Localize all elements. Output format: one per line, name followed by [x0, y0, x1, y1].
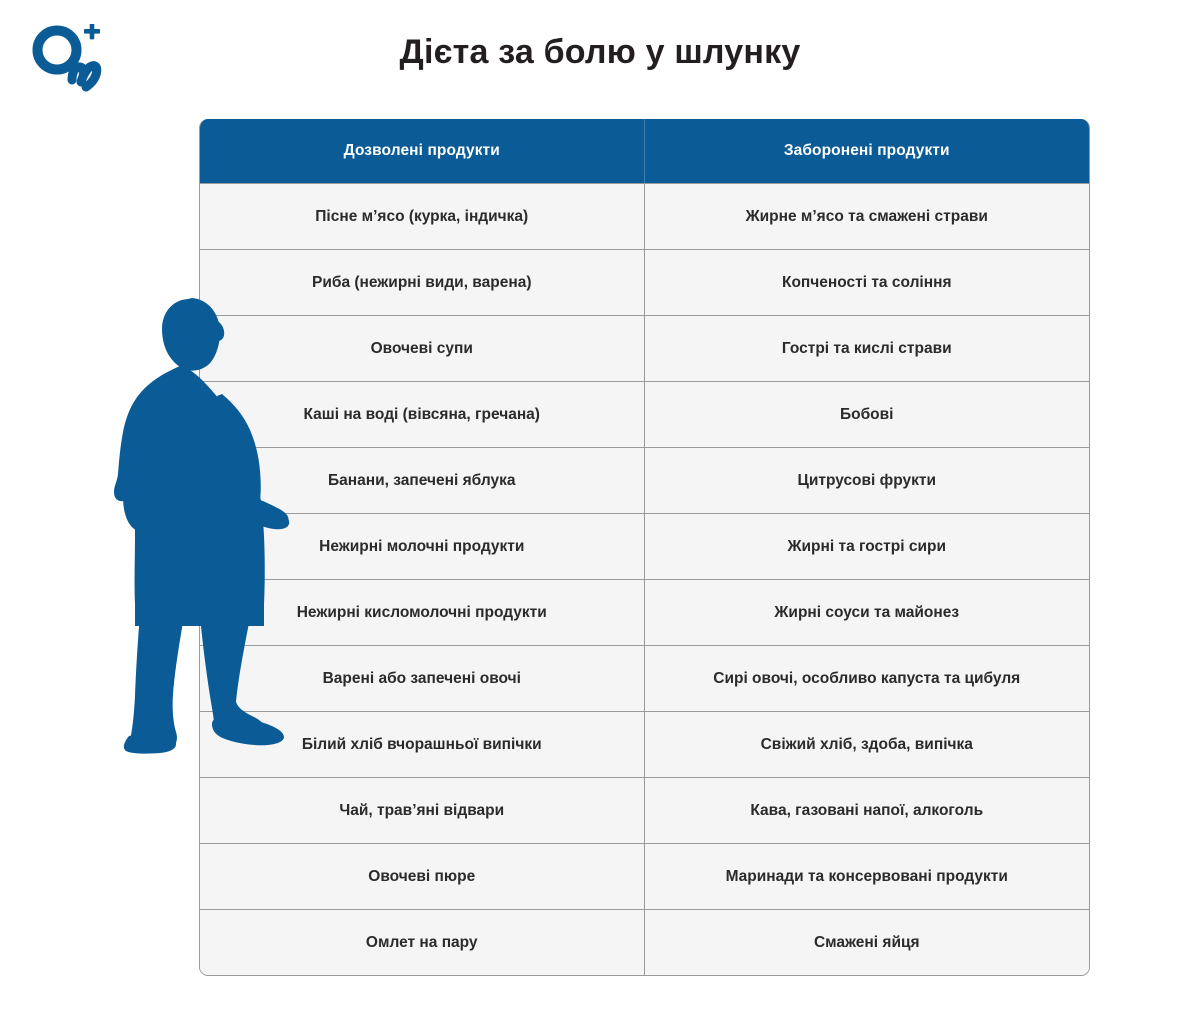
table-header-row: Дозволені продукти Заборонені продукти	[200, 119, 1089, 183]
cell-allowed: Банани, запечені яблука	[200, 448, 645, 513]
table-row: Чай, трав’яні відвари Кава, газовані нап…	[200, 777, 1089, 843]
table-row: Овочеві супи Гострі та кислі страви	[200, 315, 1089, 381]
cell-forbidden: Цитрусові фрукти	[645, 448, 1090, 513]
column-header-allowed: Дозволені продукти	[200, 119, 645, 183]
table-row: Омлет на пару Смажені яйця	[200, 909, 1089, 975]
diet-comparison-table: Дозволені продукти Заборонені продукти П…	[199, 119, 1090, 976]
table-row: Нежирні кисломолочні продукти Жирні соус…	[200, 579, 1089, 645]
table-row: Пісне м’ясо (курка, індичка) Жирне м’ясо…	[200, 183, 1089, 249]
cell-forbidden: Копченості та соління	[645, 250, 1090, 315]
cell-forbidden: Жирне м’ясо та смажені страви	[645, 184, 1090, 249]
cell-allowed: Каші на воді (вівсяна, гречана)	[200, 382, 645, 447]
cell-allowed: Пісне м’ясо (курка, індичка)	[200, 184, 645, 249]
cell-allowed: Чай, трав’яні відвари	[200, 778, 645, 843]
table-row: Риба (нежирні види, варена) Копченості т…	[200, 249, 1089, 315]
page-title: Дієта за болю у шлунку	[0, 33, 1200, 72]
cell-allowed: Омлет на пару	[200, 910, 645, 975]
cell-allowed: Нежирні молочні продукти	[200, 514, 645, 579]
cell-forbidden: Жирні та гострі сири	[645, 514, 1090, 579]
table-row: Каші на воді (вівсяна, гречана) Бобові	[200, 381, 1089, 447]
cell-allowed: Нежирні кисломолочні продукти	[200, 580, 645, 645]
cell-forbidden: Бобові	[645, 382, 1090, 447]
column-header-forbidden: Заборонені продукти	[645, 119, 1090, 183]
table-row: Варені або запечені овочі Сирі овочі, ос…	[200, 645, 1089, 711]
table-row: Білий хліб вчорашньої випічки Свіжий хлі…	[200, 711, 1089, 777]
cell-forbidden: Кава, газовані напої, алкоголь	[645, 778, 1090, 843]
cell-allowed: Риба (нежирні види, варена)	[200, 250, 645, 315]
cell-allowed: Овочеві супи	[200, 316, 645, 381]
cell-forbidden: Сирі овочі, особливо капуста та цибуля	[645, 646, 1090, 711]
cell-forbidden: Жирні соуси та майонез	[645, 580, 1090, 645]
cell-forbidden: Свіжий хліб, здоба, випічка	[645, 712, 1090, 777]
cell-forbidden: Маринади та консервовані продукти	[645, 844, 1090, 909]
table-row: Нежирні молочні продукти Жирні та гострі…	[200, 513, 1089, 579]
table-row: Банани, запечені яблука Цитрусові фрукти	[200, 447, 1089, 513]
cell-allowed: Варені або запечені овочі	[200, 646, 645, 711]
table-body: Пісне м’ясо (курка, індичка) Жирне м’ясо…	[200, 183, 1089, 975]
table-row: Овочеві пюре Маринади та консервовані пр…	[200, 843, 1089, 909]
cell-forbidden: Гострі та кислі страви	[645, 316, 1090, 381]
cell-allowed: Овочеві пюре	[200, 844, 645, 909]
cell-allowed: Білий хліб вчорашньої випічки	[200, 712, 645, 777]
cell-forbidden: Смажені яйця	[645, 910, 1090, 975]
